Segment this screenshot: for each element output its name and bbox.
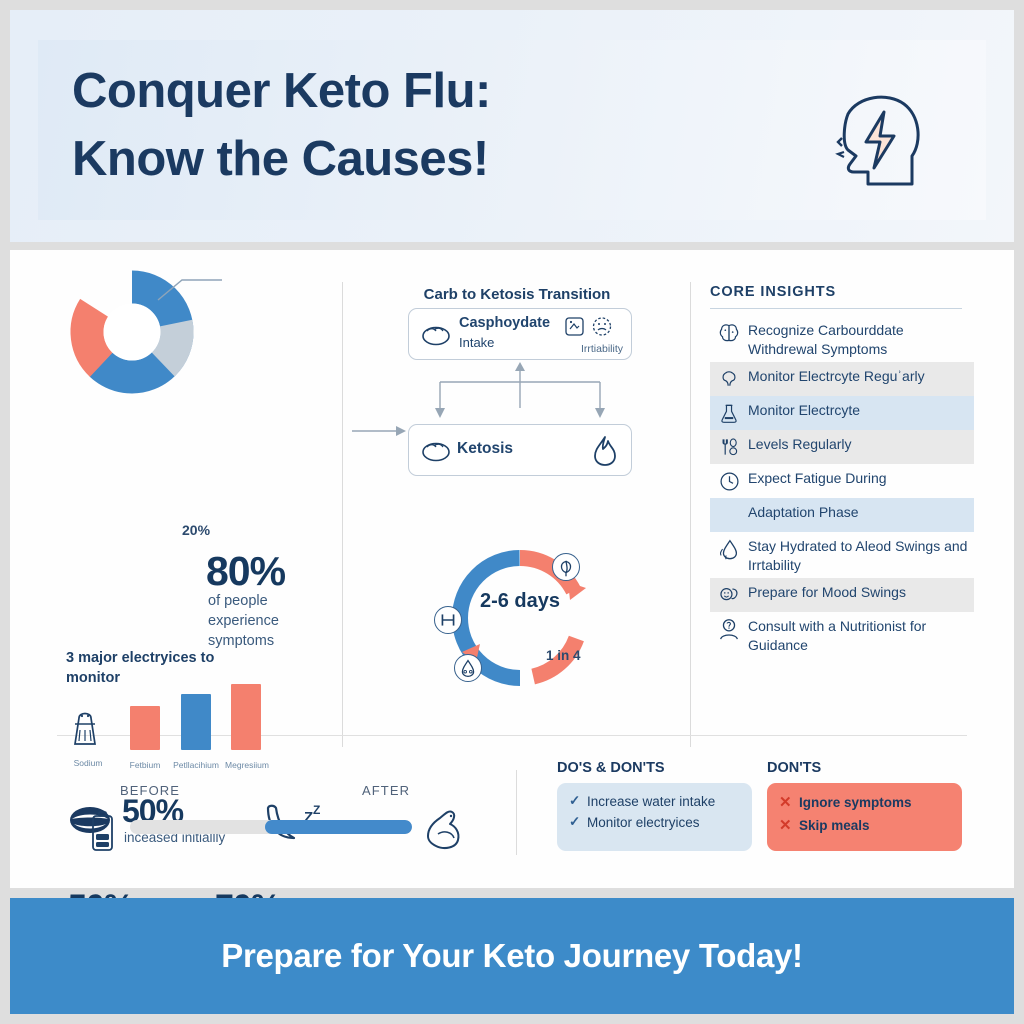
column-divider-left [342, 282, 343, 747]
insight-text: Monitor Electrcyte [748, 400, 860, 420]
insight-row-flask[interactable]: Monitor Electrcyte [710, 396, 974, 430]
column-divider-right [690, 282, 691, 747]
salt-icon-label: Sodium [65, 758, 111, 768]
check-icon: ✓ [569, 793, 587, 809]
flow-entry-arrow [352, 422, 410, 440]
insight-text: Levels Regularly [748, 434, 852, 454]
infographic-page: Conquer Keto Flu: Know the Causes! [0, 0, 1024, 1024]
irritability-label: Irrtiability [581, 343, 623, 355]
cross-icon: ✕ [779, 816, 799, 834]
page-title-line1: Conquer Keto Flu: [72, 64, 491, 118]
page-title-line2: Know the Causes! [72, 126, 772, 194]
donts-item: ✕ Skip meals [779, 816, 950, 834]
duration-ring-side-label: 1 in 4 [546, 648, 581, 663]
donts-item-text: Ignore symptoms [799, 795, 912, 810]
insight-text: Expect Fatigue During [748, 468, 887, 488]
flow-box-ketosis-label: Ketosis [457, 440, 513, 458]
cross-icon: ✕ [779, 793, 799, 811]
big-stat-value: 80% [206, 548, 285, 595]
bread-icon [421, 322, 451, 348]
flexed-bicep-icon [422, 806, 464, 852]
insight-text: Consult with a Nutritionist for Guidance [748, 616, 972, 654]
before-label: BEFORE [120, 783, 180, 798]
bar-label-megresiium: Megresiium [216, 760, 278, 770]
core-insights-title: CORE INSIGHTS [710, 284, 836, 300]
insight-row-nutritionist[interactable]: Consult with a Nutritionist for Guidance [710, 612, 974, 658]
clock-icon [710, 468, 748, 494]
flame-icon [591, 435, 619, 467]
progress-fill [265, 820, 412, 834]
main-content-panel: 20% 80% of people experience symptoms 3 … [10, 250, 1014, 888]
mood-faces-icon [710, 582, 748, 608]
after-label: AFTER [362, 783, 410, 798]
electrolytes-bar-chart: Sodium Fetbium Petllacihium Megresiium [68, 680, 318, 778]
insight-row-fork-spoon[interactable]: Levels Regularly [710, 430, 974, 464]
insight-text: Monitor Electrcyte Reguʾarly [748, 366, 925, 386]
dos-title: DO'S & DON'TS [557, 760, 665, 776]
insight-text: Prepare for Mood Swings [748, 582, 906, 602]
core-insights-rule [710, 308, 962, 309]
dos-item-text: Increase water intake [587, 794, 715, 809]
insight-text: Adaptation Phase [748, 502, 859, 522]
svg-text:Z: Z [313, 803, 320, 817]
dos-item: ✓ Monitor electryices [569, 814, 740, 830]
ring-node-dumbbell-icon [434, 606, 462, 634]
fork-spoon-icon [710, 434, 748, 460]
page-title: Conquer Keto Flu: Know the Causes! [72, 58, 772, 193]
bottom-divider [516, 770, 517, 855]
salt-shaker-icon [68, 706, 102, 748]
battery-low-icon [90, 810, 116, 852]
dos-item-text: Monitor electryices [587, 815, 700, 830]
bar-petllacihium [181, 694, 211, 750]
big-stat-caption: of people experience symptoms [208, 591, 328, 651]
dos-item: ✓ Increase water intake [569, 793, 740, 809]
header-banner: Conquer Keto Flu: Know the Causes! [10, 10, 1014, 242]
insight-row-mood[interactable]: Prepare for Mood Swings [710, 578, 974, 612]
donut-callout-value: 20% [182, 522, 210, 538]
donut-callout-line [156, 274, 226, 302]
insight-row-clock[interactable]: Expect Fatigue During [710, 464, 974, 498]
insight-row-adaptation[interactable]: Adaptation Phase [710, 498, 974, 532]
duration-ring-center-label: 2-6 days [440, 590, 600, 613]
ring-node-leaf-icon [552, 553, 580, 581]
donts-title: DON'TS [767, 760, 821, 776]
person-question-icon [710, 616, 748, 642]
insight-text: Stay Hydrated to Aleod Swings and Irrtab… [748, 536, 972, 574]
flow-box-carb-subtitle: Intake [459, 335, 494, 350]
flask-icon [710, 400, 748, 426]
kidney-icon [710, 366, 748, 392]
ring-node-water-icon [454, 654, 482, 682]
dos-box: ✓ Increase water intake ✓ Monitor electr… [557, 783, 752, 851]
insight-row-brain[interactable]: Recognize Carbourddate Withdrewal Sympto… [710, 316, 974, 362]
bar-fetbium [130, 706, 160, 750]
donts-item: ✕ Ignore symptoms [779, 793, 950, 811]
insight-row-hydration[interactable]: Stay Hydrated to Aleod Swings and Irrtab… [710, 532, 974, 578]
progress-track[interactable] [130, 820, 412, 834]
water-drop-icon [710, 536, 748, 562]
head-lightning-icon [818, 80, 936, 198]
donts-item-text: Skip meals [799, 818, 870, 833]
flow-box-carb-title: Casphoydate [459, 315, 550, 331]
brain-icon [710, 320, 748, 346]
donts-box: ✕ Ignore symptoms ✕ Skip meals [767, 783, 962, 851]
flow-box-carb-intake: Casphoydate Intake Irrtiability [408, 308, 632, 360]
flow-diagram-title: Carb to Ketosis Transition [352, 286, 682, 303]
footer-cta-text: Prepare for Your Keto Journey Today! [221, 937, 803, 975]
flow-arrows [408, 358, 632, 426]
core-insights-list: Recognize Carbourddate Withdrewal Sympto… [710, 316, 974, 659]
check-icon: ✓ [569, 814, 587, 830]
bar-megresiium [231, 684, 261, 750]
footer-cta-banner: Prepare for Your Keto Journey Today! [10, 898, 1014, 1014]
spacer-icon [710, 502, 748, 528]
insight-text: Recognize Carbourddate Withdrewal Sympto… [748, 320, 972, 358]
flow-box-ketosis: Ketosis [408, 424, 632, 476]
irritability-icons [564, 316, 622, 336]
insight-row-kidney[interactable]: Monitor Electrcyte Reguʾarly [710, 362, 974, 396]
bread-icon-2 [421, 438, 451, 464]
